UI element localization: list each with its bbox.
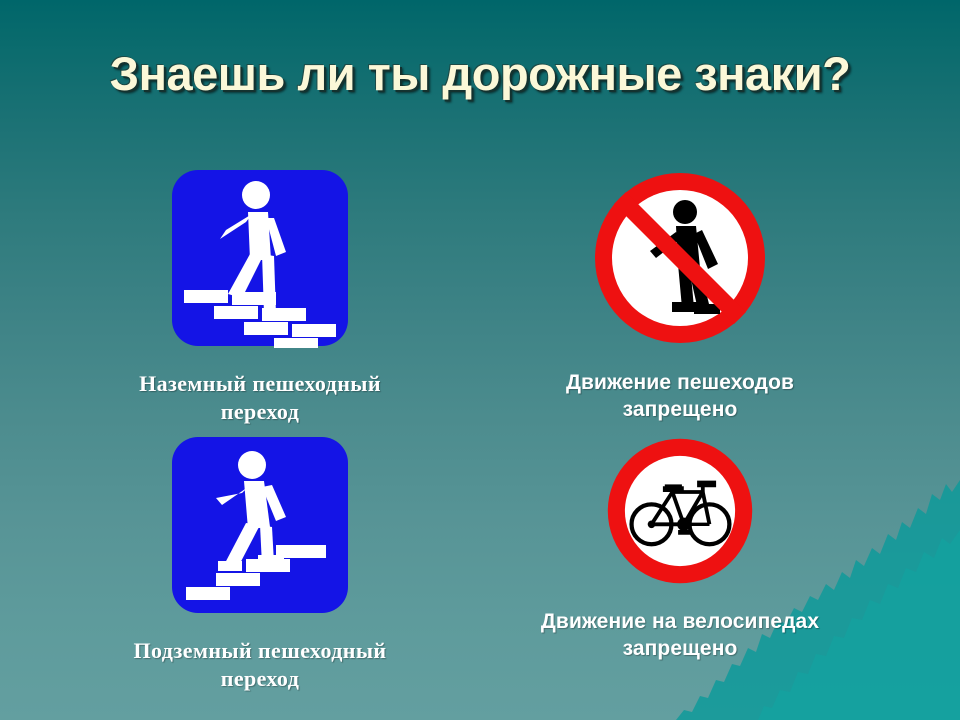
sign-caption-line2: переход	[60, 398, 460, 426]
sign-caption-line2: запрещено	[470, 397, 890, 424]
sign-caption-line1: Движение пешеходов	[470, 370, 890, 397]
sign-caption-line1: Подземный пешеходный	[60, 637, 460, 665]
sign-image-wrapper	[60, 168, 460, 348]
bicycle-icon	[604, 435, 756, 587]
sign-card-pedestrians-prohibited[interactable]: Движение пешеходов запрещено	[470, 168, 890, 424]
sign-card-bicycles-prohibited[interactable]: Движение на велосипедах запрещено	[470, 435, 890, 663]
sign-caption-line2: переход	[60, 665, 460, 693]
page-title: Знаешь ли ты дорожные знаки?	[0, 46, 960, 101]
sign-caption: Подземный пешеходный переход	[60, 637, 460, 693]
no-pedestrians-icon	[590, 168, 770, 348]
sign-card-pedestrian-crossing-underground[interactable]: Подземный пешеходный переход	[60, 435, 460, 693]
sign-caption: Движение пешеходов запрещено	[470, 370, 890, 424]
sign-caption-line1: Наземный пешеходный	[60, 370, 460, 398]
sign-image-wrapper	[470, 168, 890, 348]
pedestrian-stairs-down-icon	[170, 168, 350, 348]
pedestrian-stairs-up-icon	[170, 435, 350, 615]
sign-card-pedestrian-crossing-surface[interactable]: Наземный пешеходный переход	[60, 168, 460, 426]
sign-image-wrapper	[60, 435, 460, 615]
slide-canvas: Знаешь ли ты дорожные знаки?	[0, 0, 960, 720]
sign-caption-line2: запрещено	[470, 636, 890, 663]
sign-image-wrapper	[470, 435, 890, 587]
sign-caption: Наземный пешеходный переход	[60, 370, 460, 426]
sign-caption: Движение на велосипедах запрещено	[470, 609, 890, 663]
sign-caption-line1: Движение на велосипедах	[470, 609, 890, 636]
